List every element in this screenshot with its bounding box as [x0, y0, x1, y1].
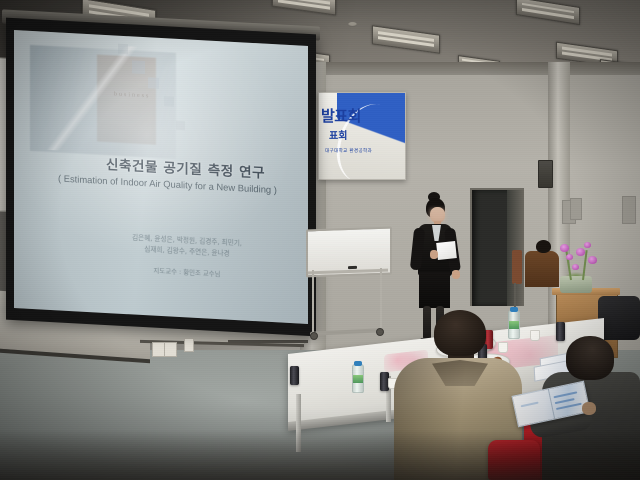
orchid-bloom — [584, 242, 591, 248]
booklet-text-line — [521, 402, 539, 408]
smoke-detector — [348, 22, 357, 27]
whiteboard-leg — [312, 270, 314, 332]
beverage-can — [290, 366, 299, 385]
seated-attendee-brown-jacket — [525, 251, 559, 287]
presenter-hand — [452, 270, 460, 279]
presenter-papers — [436, 241, 457, 260]
presenter-hand — [430, 250, 438, 259]
booklet-text-line — [555, 398, 575, 404]
wall-banner-right: 발표회 표회 대구대학교 환경공학과 — [318, 92, 406, 180]
banner-right-subline: 표회 — [329, 127, 347, 142]
bottle-cap — [354, 361, 362, 366]
screen-vignette — [14, 30, 308, 324]
orchid-bloom — [560, 244, 569, 252]
wall-outlet — [184, 338, 194, 352]
water-bottle — [352, 364, 364, 393]
side-chair-leg — [514, 283, 516, 309]
wall-outlet — [164, 342, 177, 357]
booklet-fold — [548, 389, 555, 419]
foreground-shadow — [0, 430, 640, 480]
floor-bag — [598, 296, 640, 340]
seated-attendee-head — [536, 240, 551, 253]
whiteboard-caster — [310, 332, 318, 340]
attendee-head — [566, 336, 614, 380]
attendee-hand — [582, 402, 596, 415]
whiteboard-caster — [376, 328, 384, 336]
orchid-pot — [560, 276, 592, 293]
side-chair — [512, 250, 522, 284]
whiteboard-marker — [348, 266, 357, 269]
orchid-bloom — [566, 254, 573, 260]
presenter-skirt — [419, 272, 450, 308]
wall-speaker-icon — [538, 160, 553, 188]
bottle-label — [353, 375, 363, 383]
wall-plate — [570, 198, 582, 220]
banner-right-headline: 발표회 — [321, 105, 361, 126]
orchid-bloom — [576, 248, 585, 256]
whiteboard-leg — [380, 268, 382, 332]
projection-screen: business 신축건물 공기질 측정 연구 ( Estimation of … — [6, 26, 316, 328]
presenter-face-blur — [430, 209, 445, 221]
attendee-head — [434, 310, 486, 356]
booklet-text-line — [556, 403, 582, 410]
banner-right-footline: 대구대학교 환경공학과 — [325, 148, 372, 154]
orchid-bloom — [588, 256, 597, 264]
wall-plate — [622, 196, 636, 224]
presentation-photo: 대 교 (금) 발표회 표회 대구대학교 환경공학과 business 신축건물… — [0, 0, 640, 480]
projected-slide: business 신축건물 공기질 측정 연구 ( Estimation of … — [14, 30, 308, 324]
orchid-bloom — [572, 264, 579, 270]
